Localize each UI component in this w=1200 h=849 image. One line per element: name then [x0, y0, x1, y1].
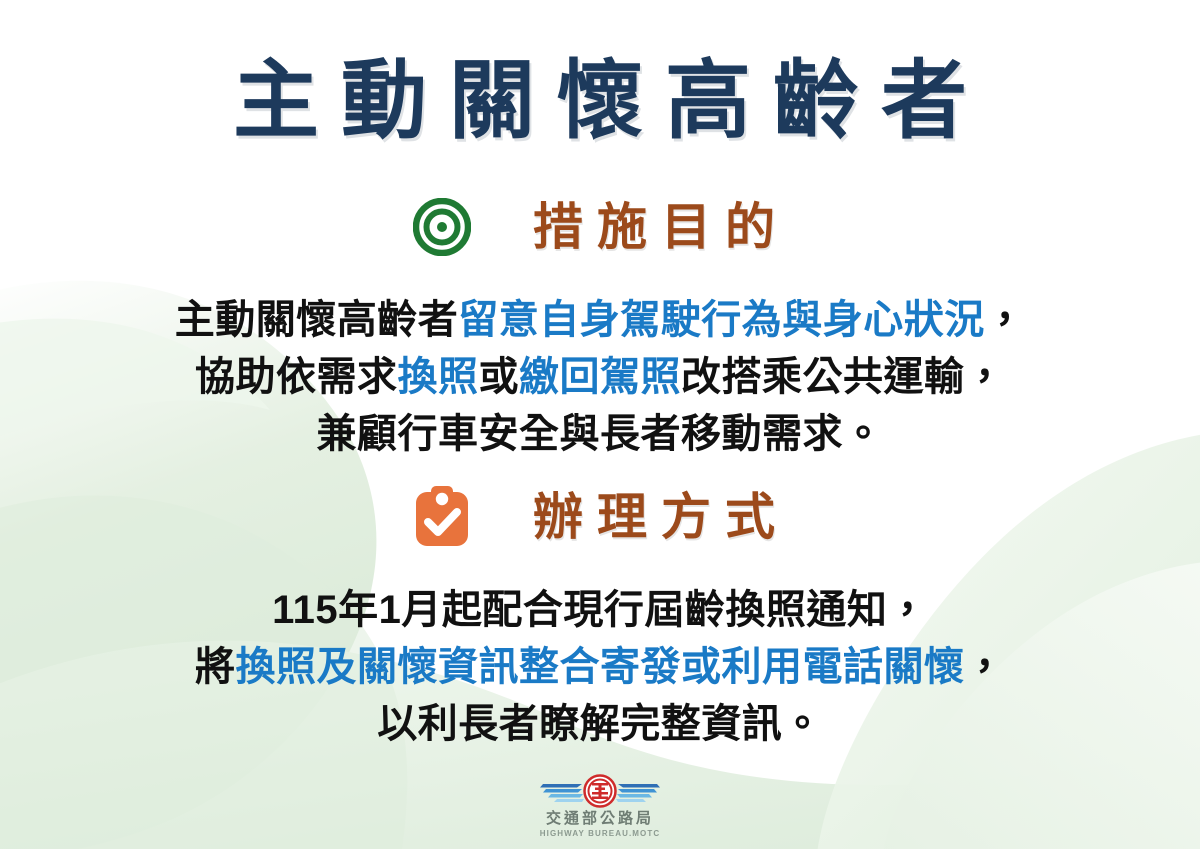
- body-span: 改搭乘公共運輸，: [681, 355, 1005, 399]
- page-title: 主動關懷高齡者: [0, 56, 1200, 146]
- body-span: ，: [965, 645, 1006, 689]
- body-span: ，: [985, 298, 1026, 342]
- section-heading-method: 辦理方式: [0, 486, 1200, 548]
- body-line: 將換照及關懷資訊整合寄發或利用電話關懷，: [0, 639, 1200, 696]
- section-body-purpose: 主動關懷高齡者留意自身駕駛行為與身心狀況， 協助依需求換照或繳回駕照改搭乘公共運…: [0, 292, 1200, 463]
- body-span-highlight: 繳回駕照: [519, 355, 681, 399]
- body-span-highlight: 換照: [398, 355, 479, 399]
- body-line: 以利長者瞭解完整資訊。: [0, 696, 1200, 753]
- highway-bureau-logo-icon: [540, 771, 660, 809]
- body-line: 協助依需求換照或繳回駕照改搭乘公共運輸，: [0, 349, 1200, 406]
- body-span: 將: [195, 645, 236, 689]
- body-span-highlight: 留意自身駕駛行為與身心狀況: [458, 298, 985, 342]
- body-line: 115年1月起配合現行屆齡換照通知，: [0, 582, 1200, 639]
- body-span: 115年1月起配合現行屆齡換照通知，: [272, 588, 928, 632]
- body-line: 兼顧行車安全與長者移動需求。: [0, 406, 1200, 463]
- body-line: 主動關懷高齡者留意自身駕駛行為與身心狀況，: [0, 292, 1200, 349]
- body-span: 以利長者瞭解完整資訊。: [377, 702, 823, 746]
- poster-canvas: 主動關懷高齡者 措施目的 主動關懷高齡者留意自身駕駛行為與身心狀況， 協助依需求…: [0, 0, 1200, 849]
- body-span: 協助依需求: [195, 355, 398, 399]
- target-icon: [411, 196, 473, 258]
- section-body-method: 115年1月起配合現行屆齡換照通知， 將換照及關懷資訊整合寄發或利用電話關懷， …: [0, 582, 1200, 753]
- footer-org-name-zh: 交通部公路局: [546, 810, 654, 828]
- clipboard-check-icon: [411, 486, 473, 548]
- main-title-text: 主動關懷高齡者: [0, 56, 1200, 146]
- body-span: 兼顧行車安全與長者移動需求。: [317, 412, 884, 456]
- body-span: 主動關懷高齡者: [175, 298, 459, 342]
- section-title-purpose: 措施目的: [519, 202, 789, 252]
- footer-org-name-en: HIGHWAY BUREAU.MOTC: [540, 829, 660, 839]
- section-heading-purpose: 措施目的: [0, 196, 1200, 258]
- body-span-highlight: 換照及關懷資訊整合寄發或利用電話關懷: [236, 645, 965, 689]
- body-span: 或: [479, 355, 520, 399]
- section-title-method: 辦理方式: [519, 492, 789, 542]
- footer: 交通部公路局 HIGHWAY BUREAU.MOTC: [0, 771, 1200, 839]
